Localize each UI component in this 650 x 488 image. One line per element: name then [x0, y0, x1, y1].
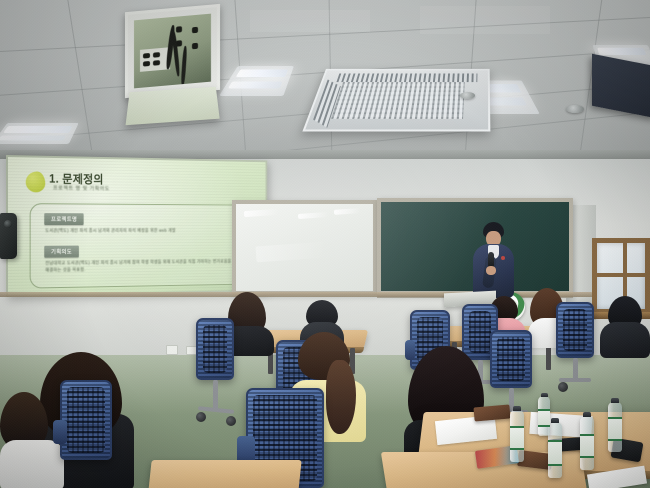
table-row	[148, 460, 301, 488]
water-bottle	[580, 416, 594, 470]
projection-screen: 1. 문제정의 프로젝트 명 및 기획의도 프로젝트명 도서관(백도) 개인 좌…	[6, 155, 267, 297]
water-bottle	[548, 422, 562, 478]
ceiling	[0, 0, 650, 160]
screen-scanlines	[8, 157, 266, 295]
ac-grille	[331, 78, 465, 119]
smoke-detector-icon	[566, 105, 584, 113]
water-bottle	[538, 396, 550, 436]
ceiling-dark-panel	[592, 54, 650, 118]
access-panel-skirt	[126, 87, 220, 125]
access-panel-interior	[134, 14, 211, 89]
fluorescent-fixture-1	[219, 66, 294, 96]
water-bottle	[510, 410, 524, 462]
presenter-hand	[486, 266, 496, 275]
whiteboard	[232, 200, 377, 295]
projector-access-panel	[125, 4, 220, 98]
water-bottle	[608, 402, 622, 452]
presenter-lapel-pin-icon	[501, 256, 505, 260]
attendee-top	[600, 322, 650, 358]
wall-speaker-icon	[0, 213, 17, 259]
ceiling-speaker-icon	[460, 92, 475, 99]
presenter	[470, 222, 516, 298]
ceiling-ac-unit	[302, 69, 490, 132]
classroom-photo: 1. 문제정의 프로젝트 명 및 기획의도 프로젝트명 도서관(백도) 개인 좌…	[0, 0, 650, 488]
attendee-top	[0, 440, 64, 488]
fluorescent-fixture-3	[0, 123, 79, 144]
list-item	[600, 296, 650, 356]
speaker-lens-icon	[4, 220, 12, 228]
